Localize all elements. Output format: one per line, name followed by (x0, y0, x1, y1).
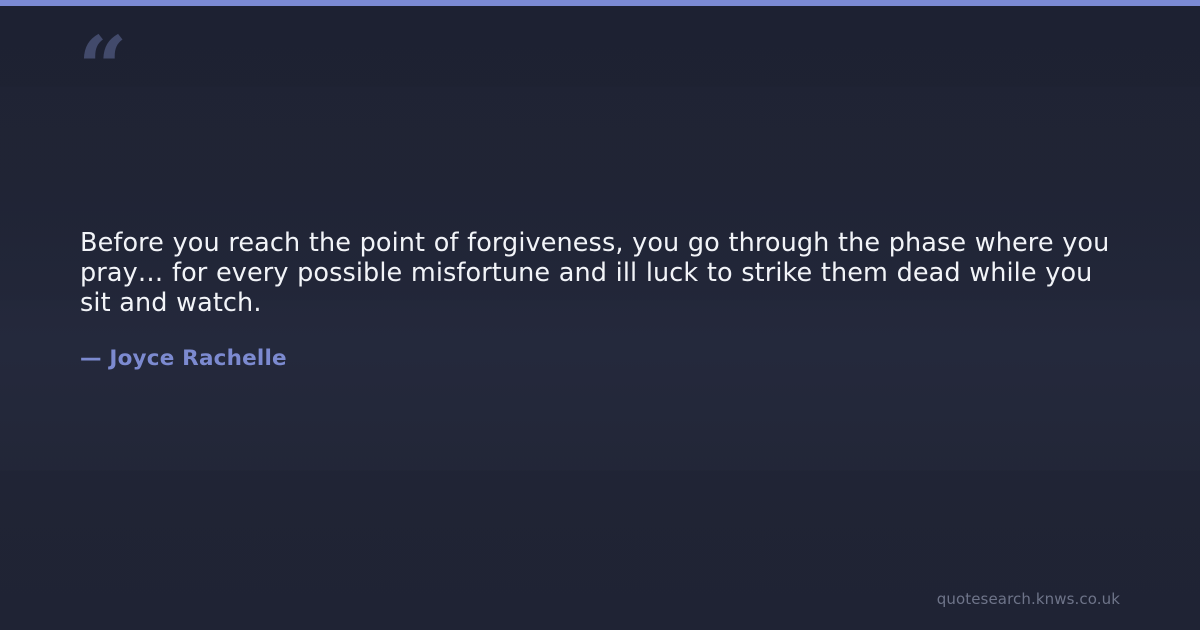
author-name: Joyce Rachelle (109, 346, 286, 371)
quote-card: “ Before you reach the point of forgiven… (0, 0, 1200, 630)
open-quote-icon: “ (78, 26, 126, 112)
top-accent-bar (0, 0, 1200, 6)
site-watermark: quotesearch.knws.co.uk (937, 590, 1120, 608)
quote-author: — Joyce Rachelle (80, 346, 1128, 372)
quote-text: Before you reach the point of forgivenes… (80, 228, 1128, 318)
quote-content: Before you reach the point of forgivenes… (80, 228, 1128, 372)
author-dash: — (80, 346, 102, 371)
